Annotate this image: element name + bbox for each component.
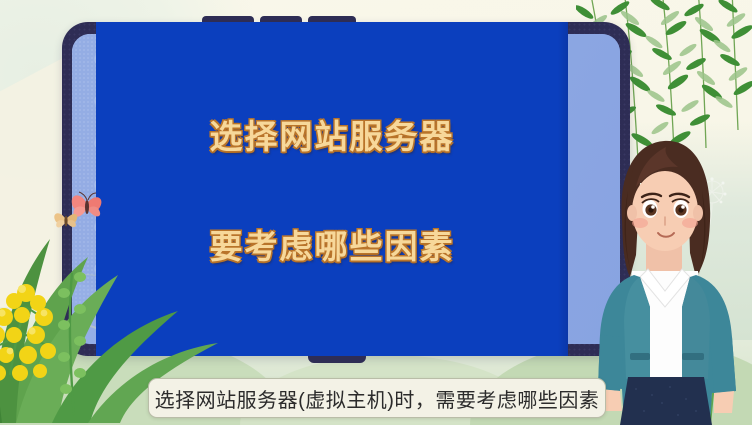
butterflies-decoration bbox=[52, 190, 114, 238]
title-line-1: 选择网站服务器 bbox=[210, 110, 455, 158]
slide-canvas: 选择网站服务器 要考虑哪些因素 bbox=[0, 0, 752, 425]
panel-edge-shadow bbox=[558, 22, 568, 356]
character-hand-right bbox=[714, 391, 734, 413]
subtitle-caption-box: 选择网站服务器(虚拟主机)时，需要考虑哪些因素 bbox=[148, 378, 606, 418]
presenter-character bbox=[578, 125, 752, 425]
character-skirt bbox=[620, 377, 712, 425]
subtitle-caption-text: 选择网站服务器(虚拟主机)时，需要考虑哪些因素 bbox=[155, 384, 600, 413]
butterfly-pink-icon bbox=[72, 192, 102, 217]
title-line-2: 要考虑哪些因素 bbox=[210, 220, 455, 268]
butterfly-tan-icon bbox=[54, 213, 77, 227]
